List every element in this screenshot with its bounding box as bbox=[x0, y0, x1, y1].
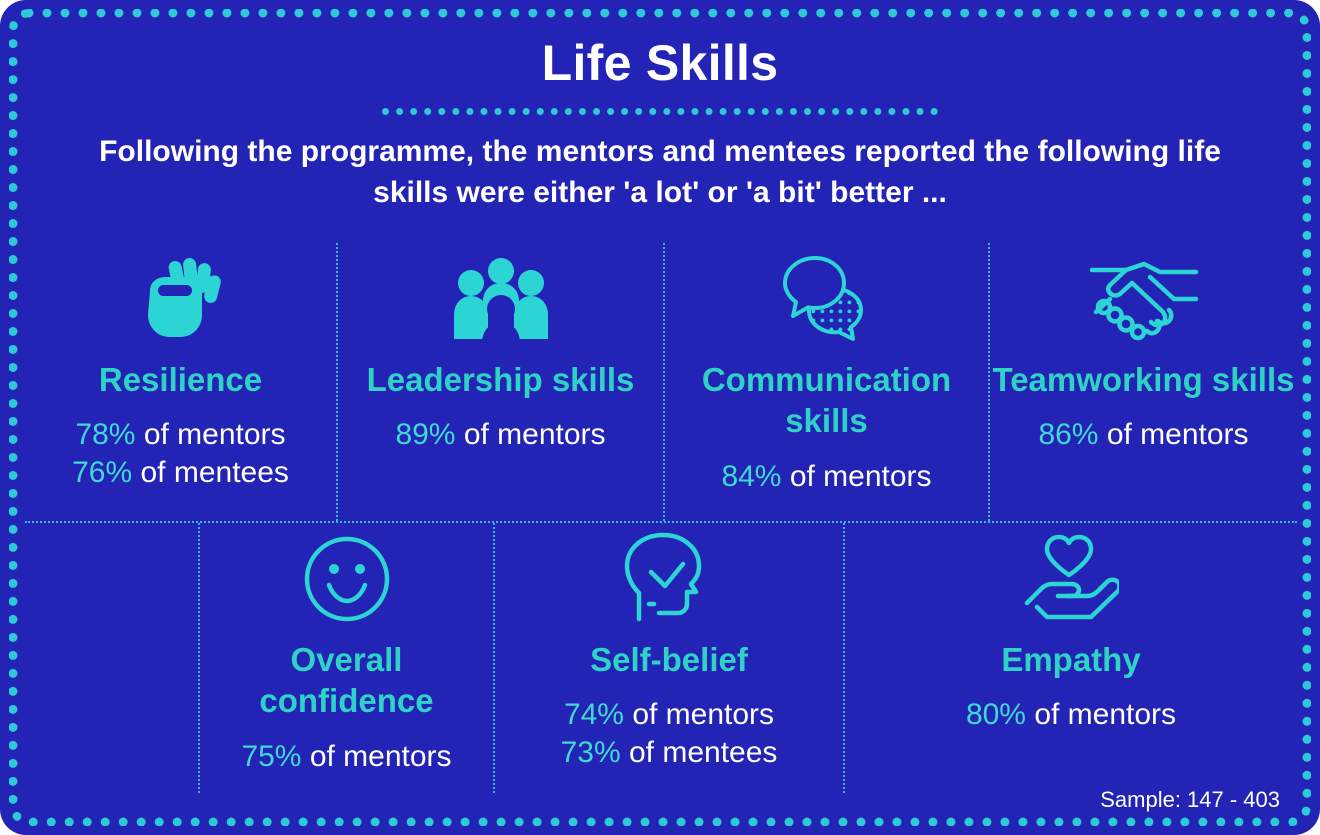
stat-percent: 84% bbox=[721, 460, 781, 493]
skill-card-empathy: Empathy 80% of mentors bbox=[843, 523, 1297, 793]
skill-title: Communication skills bbox=[665, 359, 988, 442]
stat-line: 86% of mentors bbox=[1038, 416, 1248, 454]
skill-title: Teamworking skills bbox=[993, 359, 1295, 400]
head-with-check-icon bbox=[621, 531, 717, 623]
skill-card-overall-confidence: Overall confidence 75% of mentors bbox=[198, 523, 493, 793]
skill-card-resilience: Resilience 78% of mentors 76% of mentees bbox=[25, 243, 336, 521]
stat-line: 73% of mentees bbox=[561, 734, 778, 772]
title-divider bbox=[382, 108, 938, 115]
skill-title: Resilience bbox=[99, 359, 262, 400]
stat-percent: 80% bbox=[966, 698, 1026, 731]
header: Life Skills Following the programme, the… bbox=[0, 0, 1320, 214]
stat-percent: 73% bbox=[561, 736, 621, 769]
skill-stats: 74% of mentors 73% of mentees bbox=[561, 696, 778, 771]
skills-row-top: Resilience 78% of mentors 76% of mentees bbox=[25, 243, 1297, 521]
skill-title: Overall confidence bbox=[200, 639, 493, 722]
skill-stats: 89% of mentors bbox=[395, 416, 605, 454]
stat-line: 78% of mentors bbox=[72, 416, 289, 454]
stat-percent: 89% bbox=[395, 418, 455, 451]
stat-line: 80% of mentors bbox=[966, 696, 1176, 734]
sample-size-note: Sample: 147 - 403 bbox=[1100, 787, 1280, 813]
stat-label: of mentors bbox=[1034, 698, 1176, 731]
stat-label: of mentors bbox=[790, 460, 932, 493]
stat-label: of mentors bbox=[632, 698, 774, 731]
skill-stats: 75% of mentors bbox=[241, 738, 451, 776]
stat-label: of mentors bbox=[464, 418, 606, 451]
page-title: Life Skills bbox=[0, 0, 1320, 92]
skill-card-self-belief: Self-belief 74% of mentors 73% of mentee… bbox=[493, 523, 843, 793]
skill-title: Empathy bbox=[1001, 639, 1140, 680]
stat-line: 89% of mentors bbox=[395, 416, 605, 454]
handshake-icon bbox=[1088, 251, 1200, 343]
skill-stats: 78% of mentors 76% of mentees bbox=[72, 416, 289, 491]
stat-label: of mentors bbox=[1107, 418, 1249, 451]
stat-line: 76% of mentees bbox=[72, 454, 289, 492]
stat-label: of mentors bbox=[310, 740, 452, 773]
skill-stats: 86% of mentors bbox=[1038, 416, 1248, 454]
heart-in-hand-icon bbox=[1023, 531, 1119, 623]
skill-title: Leadership skills bbox=[367, 359, 635, 400]
raised-fist-icon bbox=[140, 251, 222, 343]
group-of-people-icon bbox=[453, 251, 549, 343]
stat-label: of mentees bbox=[629, 736, 777, 769]
stat-line: 84% of mentors bbox=[721, 458, 931, 496]
smiley-face-icon bbox=[303, 531, 391, 623]
stat-label: of mentors bbox=[144, 418, 286, 451]
stat-label: of mentees bbox=[140, 456, 288, 489]
page-subtitle: Following the programme, the mentors and… bbox=[70, 131, 1250, 214]
stat-percent: 74% bbox=[564, 698, 624, 731]
skill-card-communication: Communication skills 84% of mentors bbox=[663, 243, 988, 521]
skill-card-leadership: Leadership skills 89% of mentors bbox=[336, 243, 663, 521]
skill-stats: 80% of mentors bbox=[966, 696, 1176, 734]
stat-percent: 75% bbox=[241, 740, 301, 773]
stat-line: 74% of mentors bbox=[561, 696, 778, 734]
life-skills-infographic: Life Skills Following the programme, the… bbox=[0, 0, 1320, 835]
stat-line: 75% of mentors bbox=[241, 738, 451, 776]
speech-bubbles-icon bbox=[775, 251, 879, 343]
stat-percent: 76% bbox=[72, 456, 132, 489]
skills-row-bottom: Overall confidence 75% of mentors Self bbox=[25, 523, 1297, 793]
stat-percent: 78% bbox=[75, 418, 135, 451]
skill-card-teamworking: Teamworking skills 86% of mentors bbox=[988, 243, 1297, 521]
skill-stats: 84% of mentors bbox=[721, 458, 931, 496]
stat-percent: 86% bbox=[1038, 418, 1098, 451]
skill-title: Self-belief bbox=[590, 639, 748, 680]
